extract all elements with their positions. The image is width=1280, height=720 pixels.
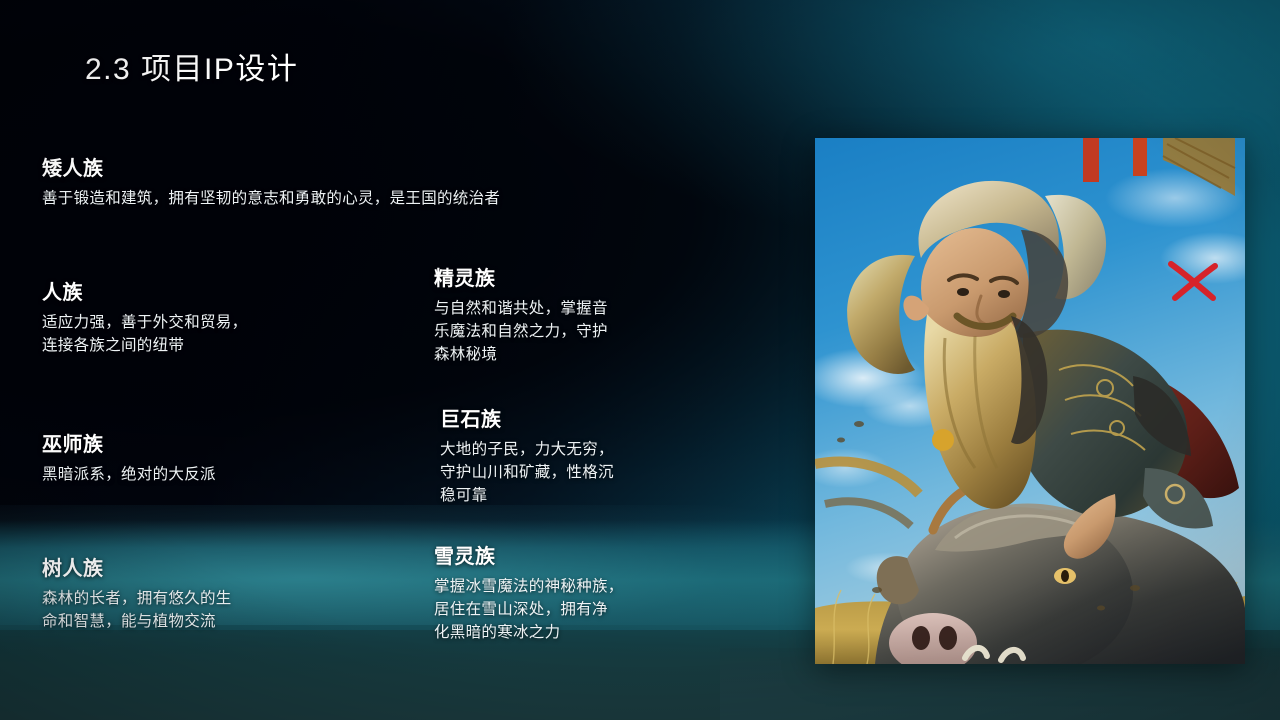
page-title: 2.3 项目IP设计 bbox=[85, 44, 298, 88]
race-block-stone: 巨石族 大地的子民，力大无穷， 守护山川和矿藏，性格沉 稳可靠 bbox=[440, 403, 710, 508]
race-desc-wizard: 黑暗派系，绝对的大反派 bbox=[42, 464, 382, 487]
race-name-wizard: 巫师族 bbox=[42, 428, 382, 457]
race-desc-elf: 与自然和谐共处，掌握音 乐魔法和自然之力，守护 森林秘境 bbox=[434, 298, 704, 367]
race-desc-stone: 大地的子民，力大无穷， 守护山川和矿藏，性格沉 稳可靠 bbox=[440, 439, 710, 508]
race-desc-snow: 掌握冰雪魔法的神秘种族， 居住在雪山深处，拥有净 化黑暗的寒冰之力 bbox=[434, 576, 709, 645]
race-name-stone: 巨石族 bbox=[440, 403, 710, 432]
race-block-wizard: 巫师族 黑暗派系，绝对的大反派 bbox=[42, 428, 382, 487]
race-name-dwarf: 矮人族 bbox=[42, 152, 722, 181]
race-desc-treant: 森林的长者，拥有悠久的生 命和智慧，能与植物交流 bbox=[42, 588, 372, 634]
race-desc-dwarf: 善于锻造和建筑，拥有坚韧的意志和勇敢的心灵，是王国的统治者 bbox=[42, 188, 722, 211]
race-block-elf: 精灵族 与自然和谐共处，掌握音 乐魔法和自然之力，守护 森林秘境 bbox=[434, 262, 704, 367]
race-name-treant: 树人族 bbox=[42, 552, 372, 581]
race-block-dwarf: 矮人族 善于锻造和建筑，拥有坚韧的意志和勇敢的心灵，是王国的统治者 bbox=[42, 152, 722, 211]
race-block-human: 人族 适应力强，善于外交和贸易， 连接各族之间的纽带 bbox=[42, 276, 372, 358]
race-desc-human: 适应力强，善于外交和贸易， 连接各族之间的纽带 bbox=[42, 312, 372, 358]
slide-root: 2.3 项目IP设计 矮人族 善于锻造和建筑，拥有坚韧的意志和勇敢的心灵，是王国… bbox=[0, 0, 1280, 720]
race-name-snow: 雪灵族 bbox=[434, 540, 709, 569]
race-block-snow: 雪灵族 掌握冰雪魔法的神秘种族， 居住在雪山深处，拥有净 化黑暗的寒冰之力 bbox=[434, 540, 709, 645]
concept-artwork bbox=[815, 138, 1245, 664]
race-name-human: 人族 bbox=[42, 276, 372, 305]
race-block-treant: 树人族 森林的长者，拥有悠久的生 命和智慧，能与植物交流 bbox=[42, 552, 372, 634]
artwork-illustration bbox=[815, 138, 1245, 664]
race-name-elf: 精灵族 bbox=[434, 262, 704, 291]
